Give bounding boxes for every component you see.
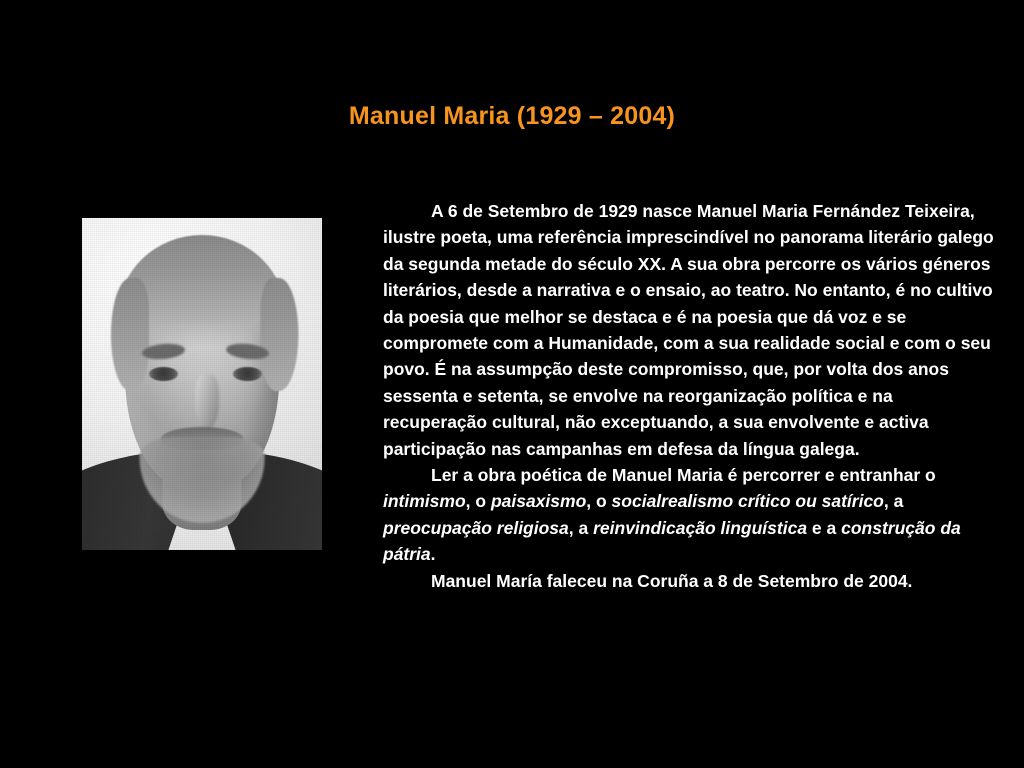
paragraph-themes: Ler a obra poética de Manuel Maria é per… [383, 462, 998, 568]
themes-tail: . [431, 544, 436, 564]
theme-socialrealismo: socialrealismo crítico ou satírico [612, 491, 884, 511]
portrait-background [82, 218, 322, 550]
slide-canvas: Manuel Maria (1929 – 2004) A 6 de Setemb… [0, 0, 1024, 768]
paragraph-death: Manuel María faleceu na Coruña a 8 de Se… [383, 568, 998, 594]
themes-sep-4: , a [569, 518, 593, 538]
theme-paisaxismo: paisaxismo [491, 491, 586, 511]
themes-sep-5: e a [807, 518, 841, 538]
theme-reinvindicacao-linguistica: reinvindicação linguística [593, 518, 807, 538]
theme-preocupacao-religiosa: preocupação religiosa [383, 518, 569, 538]
themes-lead: Ler a obra poética de Manuel Maria é per… [431, 465, 936, 485]
page-title: Manuel Maria (1929 – 2004) [0, 102, 1024, 131]
portrait-photo [82, 218, 322, 550]
themes-sep-2: , o [586, 491, 611, 511]
biography-text-block: A 6 de Setembro de 1929 nasce Manuel Mar… [383, 198, 998, 594]
themes-sep-3: , a [884, 491, 903, 511]
portrait-grain-texture [82, 218, 322, 550]
theme-intimismo: intimismo [383, 491, 466, 511]
paragraph-biography: A 6 de Setembro de 1929 nasce Manuel Mar… [383, 198, 998, 462]
themes-sep-1: , o [466, 491, 491, 511]
